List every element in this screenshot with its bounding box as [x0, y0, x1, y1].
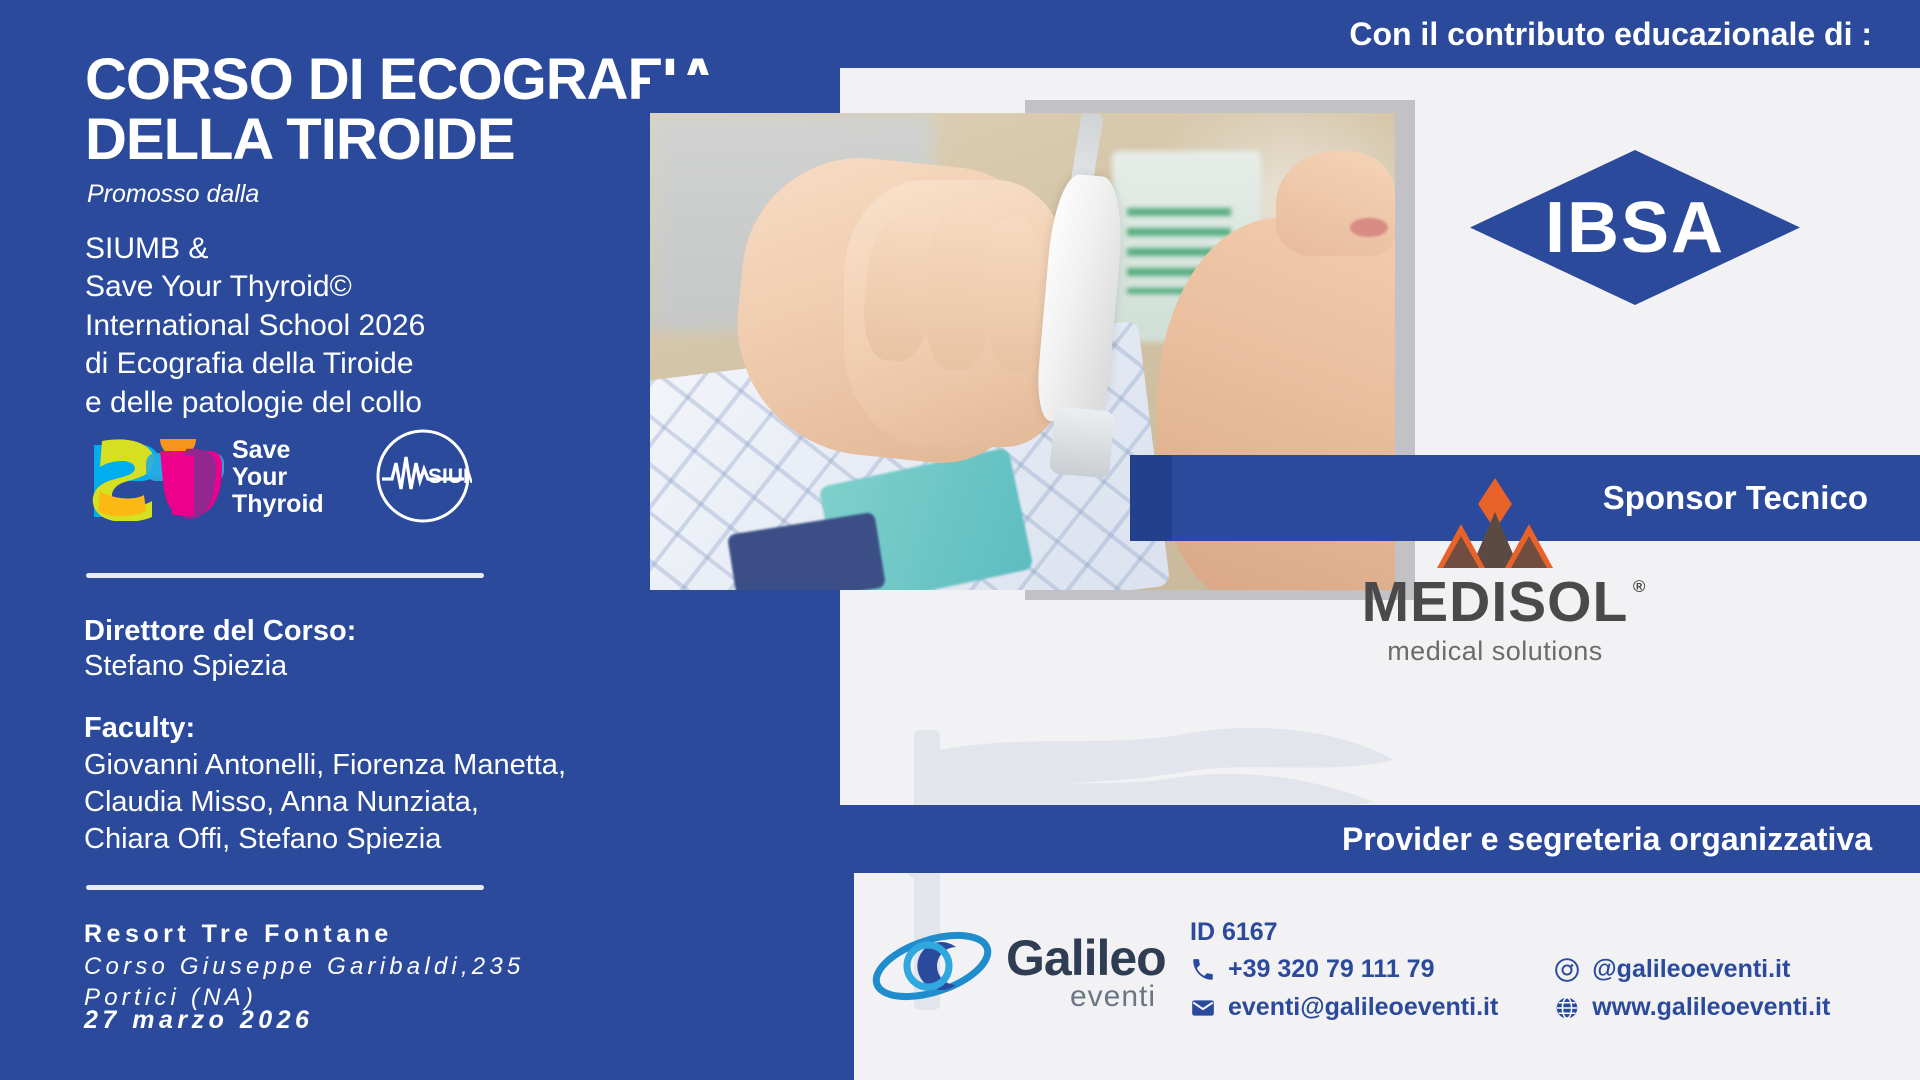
contact-phone[interactable]: +39 320 79 111 79 — [1190, 955, 1498, 984]
divider-bottom — [86, 885, 484, 890]
syt-line-3: Thyroid — [232, 491, 324, 518]
sponsor-band-accent — [1130, 455, 1172, 541]
director-name: Stefano Spiezia — [84, 650, 287, 683]
contact-instagram[interactable]: @galileoeventi.it — [1554, 955, 1830, 984]
save-your-thyroid-text: Save Your Thyroid — [232, 437, 324, 518]
globe-icon — [1554, 995, 1580, 1021]
organizers-block: SIUMB & Save Your Thyroid© International… — [85, 230, 685, 422]
faculty-names: Giovanni Antonelli, Fiorenza Manetta, Cl… — [84, 747, 704, 858]
galileo-mark-icon — [870, 925, 1000, 1007]
faculty-line: Claudia Misso, Anna Nunziata, — [84, 784, 704, 821]
instagram-icon — [1554, 957, 1580, 983]
course-title-line-1: CORSO DI ECOGRAFIA — [85, 47, 718, 112]
organizer-line: International School 2026 — [85, 307, 685, 345]
contacts-column-right: @galileoeventi.it www.galileoeventi.it — [1554, 955, 1830, 1031]
siumb-logo-text: SIUMB — [428, 465, 472, 488]
phone-icon — [1190, 957, 1216, 983]
medisol-logo: MEDISOL ® medical solutions — [1270, 478, 1720, 628]
faculty-label: Faculty: — [84, 712, 195, 745]
contact-website[interactable]: www.galileoeventi.it — [1554, 993, 1830, 1022]
venue-name: Resort Tre Fontane — [84, 920, 393, 949]
contributo-header: Con il contributo educazionale di : — [840, 0, 1920, 68]
medisol-word-text: MEDISOL — [1362, 570, 1629, 634]
organizer-line: e delle patologie del collo — [85, 384, 685, 422]
provider-id: ID 6167 — [1190, 918, 1890, 947]
provider-header: Provider e segreteria organizzativa — [840, 805, 1920, 873]
syt-line-2: Your — [232, 464, 324, 491]
venue-address-line-1: Corso Giuseppe Garibaldi,235 — [84, 952, 644, 983]
venue-address: Corso Giuseppe Garibaldi,235 Portici (NA… — [84, 952, 644, 1013]
contacts-column-left: +39 320 79 111 79 eventi@galileoeventi.i… — [1190, 955, 1498, 1031]
faculty-line: Giovanni Antonelli, Fiorenza Manetta, — [84, 747, 704, 784]
contacts-block: ID 6167 +39 320 79 111 79 eventi@galileo… — [1190, 918, 1890, 1031]
organizer-line: di Ecografia della Tiroide — [85, 345, 685, 383]
contact-instagram-label: @galileoeventi.it — [1592, 955, 1790, 984]
ibsa-logo-text: IBSA — [1470, 150, 1800, 305]
registered-mark: ® — [1633, 578, 1647, 595]
medisol-mark-icon — [1415, 478, 1575, 568]
divider-top — [86, 573, 484, 578]
contact-website-label: www.galileoeventi.it — [1592, 993, 1830, 1022]
galileo-subtitle: eventi — [1070, 980, 1156, 1014]
syt-line-1: Save — [232, 437, 324, 464]
mail-icon — [1190, 995, 1216, 1021]
medisol-wordmark: MEDISOL ® — [1362, 574, 1629, 631]
siumb-logo: SIUMB — [374, 427, 472, 525]
organizer-line: SIUMB & — [85, 230, 685, 268]
galileo-wordmark: Galileo — [1006, 929, 1166, 987]
organizer-line: Save Your Thyroid© — [85, 268, 685, 306]
save-your-thyroid-logo: Save Your Thyroid — [86, 429, 326, 521]
right-panel-notch — [840, 805, 854, 1080]
ibsa-logo: IBSA — [1470, 150, 1800, 305]
faculty-line: Chiara Offi, Stefano Spiezia — [84, 821, 704, 858]
promoted-by-label: Promosso dalla — [87, 180, 259, 209]
partner-logos-row: Save Your Thyroid SIUMB — [86, 425, 506, 530]
event-date: 27 marzo 2026 — [84, 1006, 313, 1035]
director-label: Direttore del Corso: — [84, 615, 356, 648]
contact-phone-label: +39 320 79 111 79 — [1228, 955, 1434, 984]
medisol-subtitle: medical solutions — [1270, 636, 1720, 667]
contact-email[interactable]: eventi@galileoeventi.it — [1190, 993, 1498, 1022]
contact-email-label: eventi@galileoeventi.it — [1228, 993, 1498, 1022]
